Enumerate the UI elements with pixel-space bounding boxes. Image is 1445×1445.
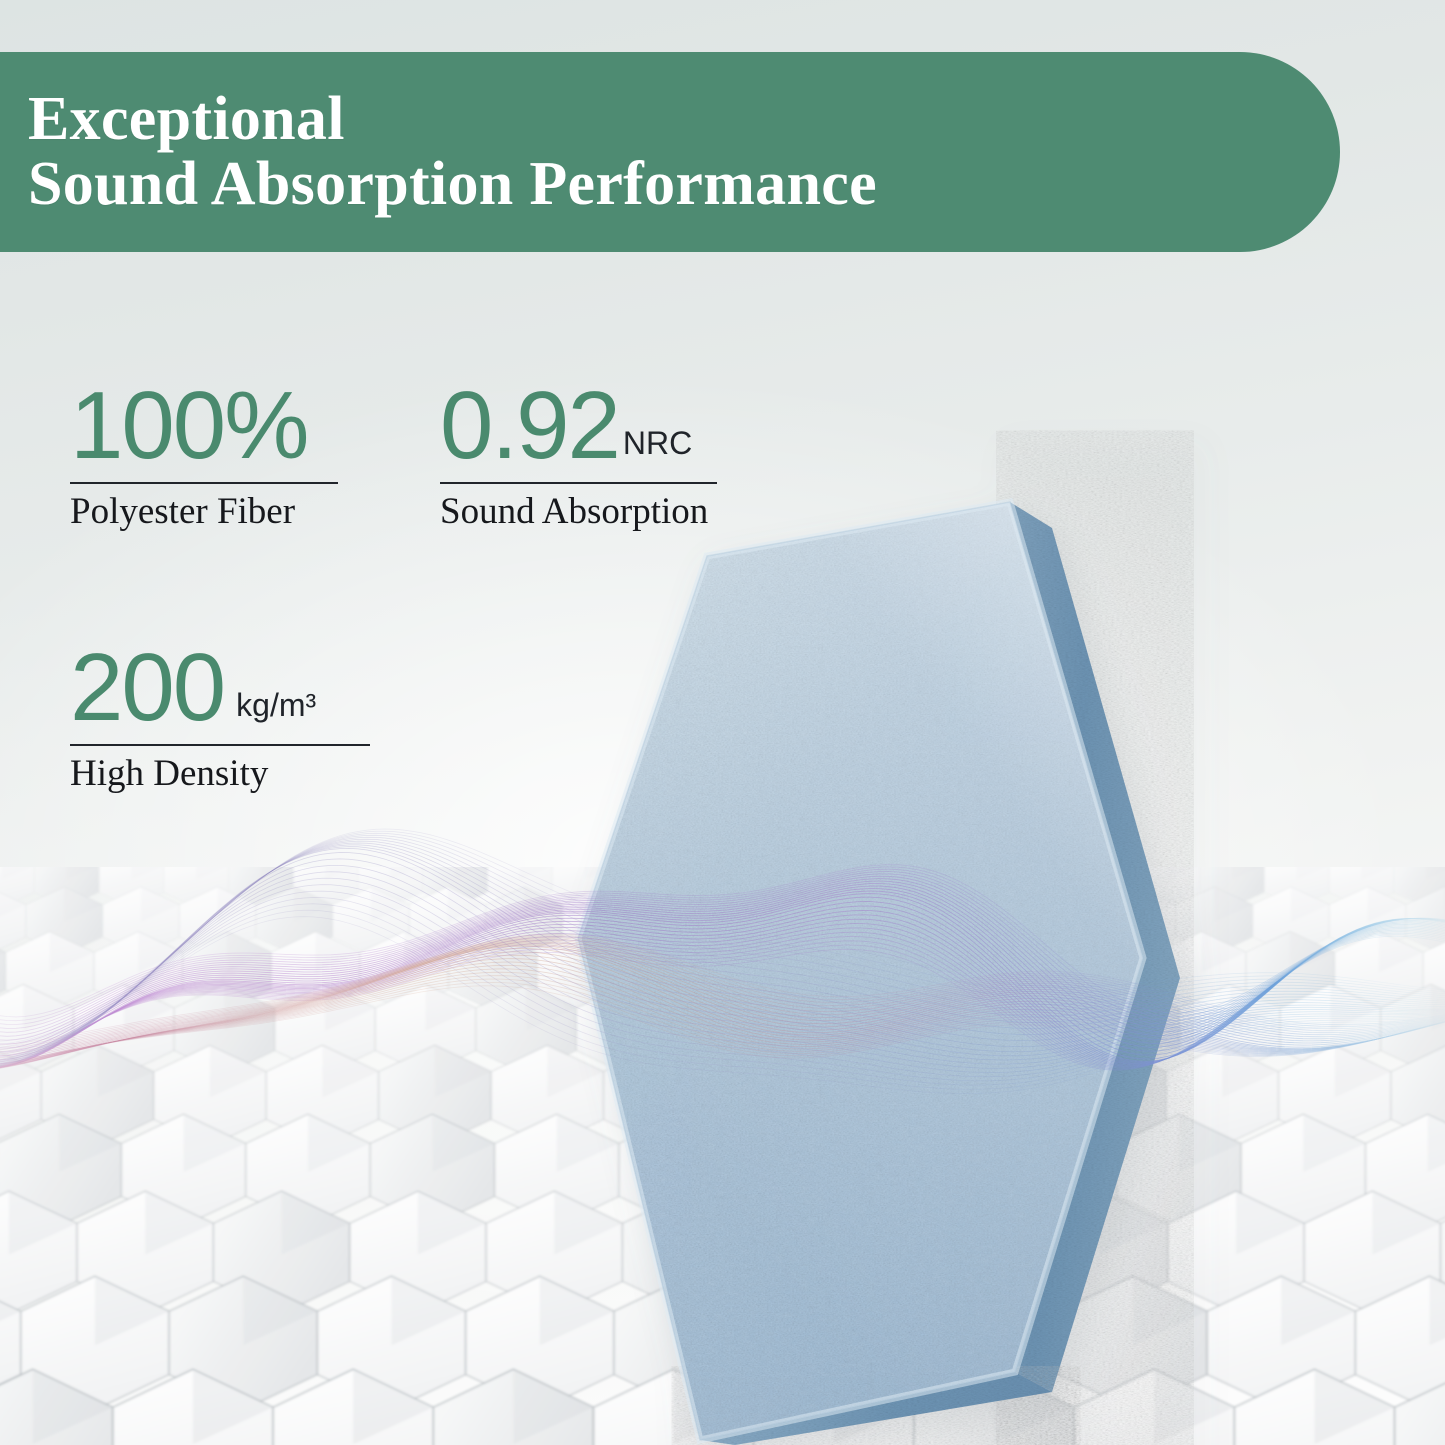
stat-value-row: 0.92 NRC <box>440 378 730 478</box>
stat-label: Sound Absorption <box>440 488 730 536</box>
stat-block-sound-absorption: 0.92 NRC Sound Absorption <box>440 378 730 536</box>
stat-label: Polyester Fiber <box>70 488 360 536</box>
stat-value: 100% <box>70 378 308 474</box>
stat-value: 0.92 <box>440 378 619 474</box>
stat-divider <box>440 482 717 484</box>
stat-label: High Density <box>70 750 390 798</box>
page-title: Exceptional Sound Absorption Performance <box>0 87 877 217</box>
stat-unit: kg/m³ <box>236 689 316 721</box>
stat-block-polyester-fiber: 100% Polyester Fiber <box>70 378 360 536</box>
stat-unit: NRC <box>623 427 692 459</box>
infographic-canvas: Exceptional Sound Absorption Performance… <box>0 0 1445 1445</box>
stat-value-row: 100% <box>70 378 360 478</box>
header-banner: Exceptional Sound Absorption Performance <box>0 52 1340 252</box>
stat-block-high-density: 200 kg/m³ High Density <box>70 640 390 798</box>
stat-divider <box>70 482 338 484</box>
stat-value: 200 <box>70 640 224 736</box>
stat-divider <box>70 744 370 746</box>
stat-value-row: 200 kg/m³ <box>70 640 390 740</box>
hexagon-honeycomb-wall-icon <box>0 867 1445 1445</box>
